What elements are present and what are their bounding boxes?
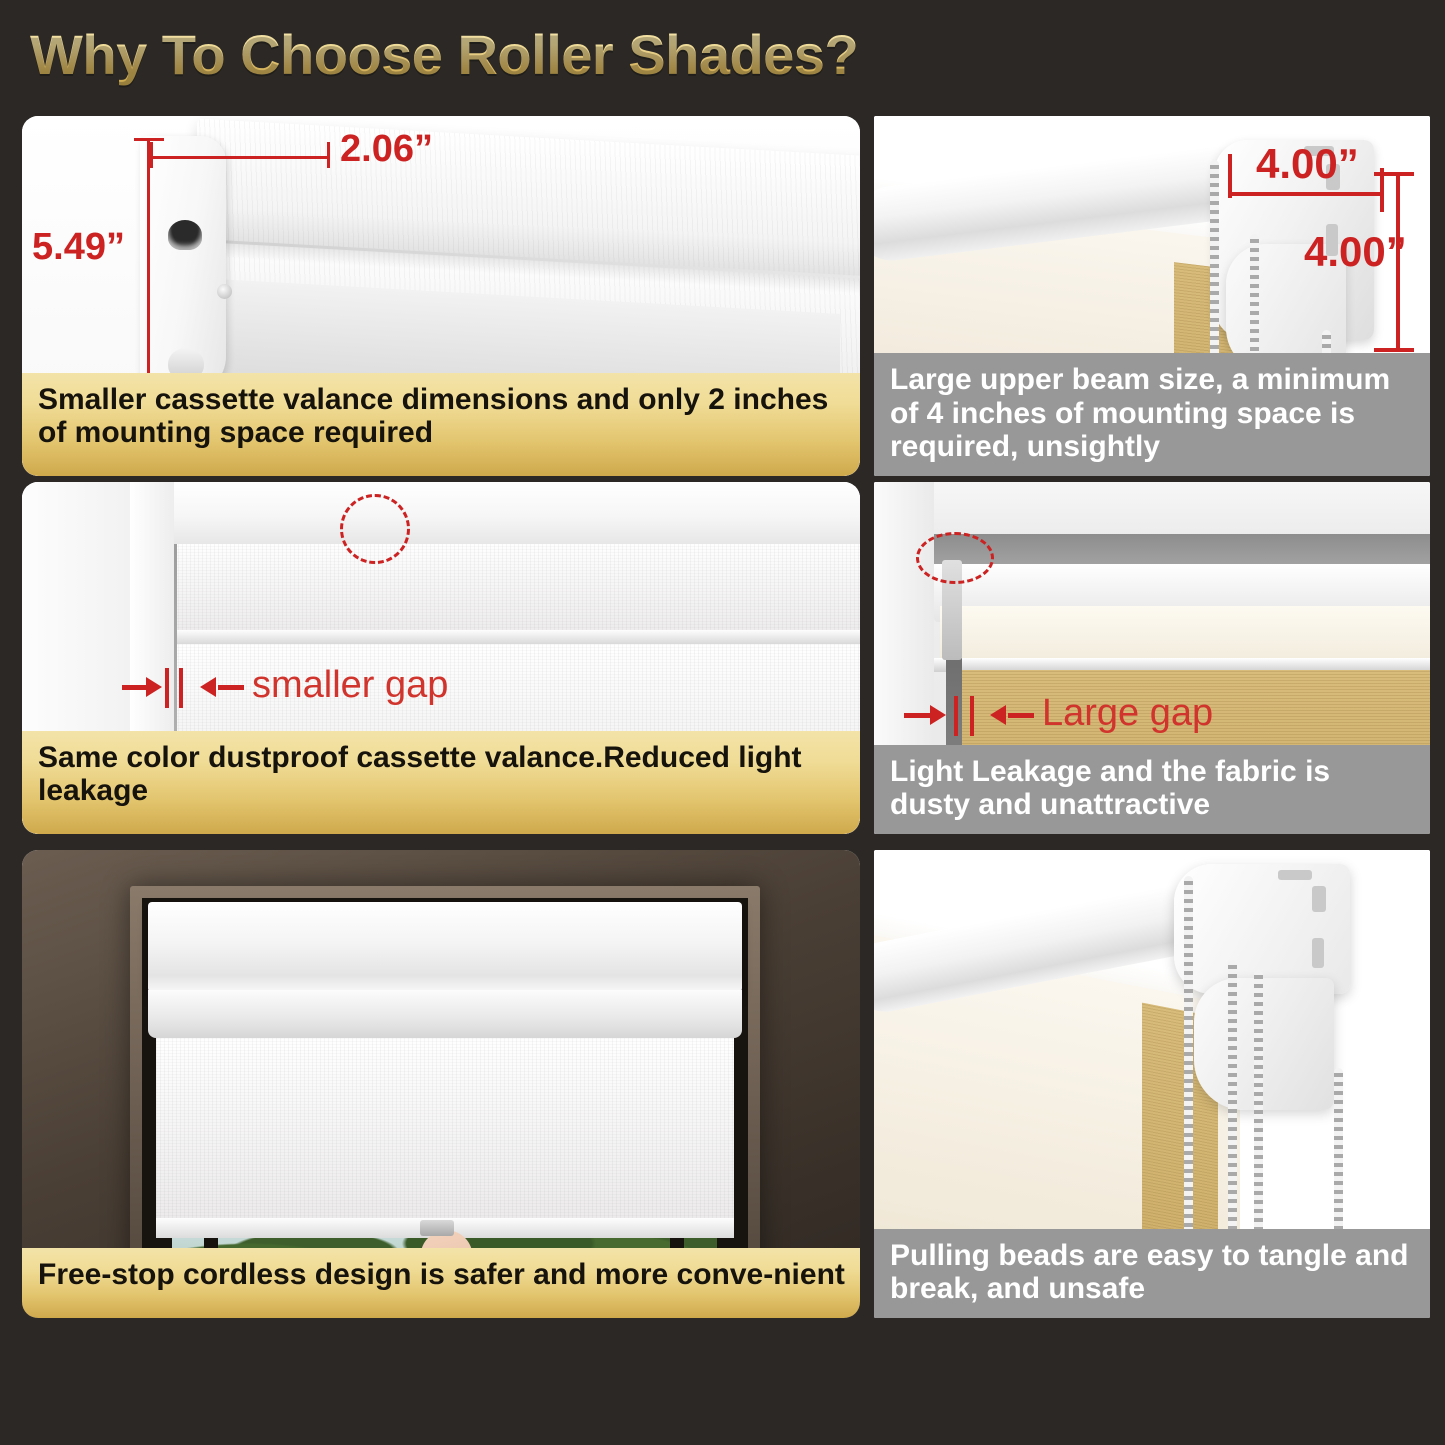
highlight-circle-large-gap (916, 532, 994, 584)
page-title: Why To Choose Roller Shades? (30, 22, 858, 87)
valance-mount-hole (168, 220, 202, 250)
gap-arrow-right-head (200, 677, 216, 697)
dim-width-line (150, 156, 330, 159)
caption-con-beads: Pulling beads are easy to tangle and bre… (874, 1229, 1430, 1318)
gap-mark-left (954, 696, 958, 736)
gap-arrow-right-shaft (1008, 713, 1034, 718)
dim-width-label: 2.06” (340, 128, 433, 171)
bracket-slot-3 (1278, 870, 1312, 880)
roller-shade-fabric (156, 1036, 734, 1222)
valance-screw (217, 284, 232, 299)
gap-arrow-left-shaft (122, 685, 146, 690)
gap-label-small: smaller gap (252, 664, 448, 707)
infographic-root: Why To Choose Roller Shades? 2.06” (0, 0, 1445, 1445)
dim-width-tick-right (327, 142, 330, 168)
gap-label-large: Large gap (1042, 692, 1213, 735)
gap-arrow-left-head (930, 705, 946, 725)
gap-mark-right (179, 668, 183, 708)
dim-beam-height-tick-top (1374, 172, 1414, 176)
caption-con-beam-size: Large upper beam size, a minimum of 4 in… (874, 353, 1430, 476)
ceiling-area (874, 482, 1430, 536)
dim-width-tick-left (150, 142, 153, 168)
window-frame-top (130, 482, 860, 544)
dim-beam-height-label: 4.00” (1304, 228, 1407, 276)
panel-con-beads: Pulling beads are easy to tangle and bre… (874, 850, 1430, 1318)
comparison-row-3: Free-stop cordless design is safer and m… (0, 850, 1445, 1330)
dim-height-label: 5.49” (32, 226, 125, 269)
valance-lower-bar (148, 990, 742, 1038)
bracket-slot-2 (1312, 938, 1324, 968)
cream-fabric-band (940, 606, 1430, 662)
gap-mark-left (165, 668, 169, 708)
gap-arrow-right-head (990, 705, 1006, 725)
caption-pro-cordless: Free-stop cordless design is safer and m… (22, 1248, 860, 1318)
highlight-circle-small-gap (340, 494, 410, 564)
gap-arrow-left-head (146, 677, 162, 697)
shade-midrail (172, 630, 860, 644)
dim-beam-width-tick-left (1228, 154, 1232, 198)
dim-beam-width-label: 4.00” (1256, 140, 1359, 188)
shade-upper-section (174, 540, 860, 640)
caption-con-large-gap: Light Leakage and the fabric is dusty an… (874, 745, 1430, 834)
gap-arrow-right-shaft (218, 685, 244, 690)
comparison-row-1: 2.06” 5.49” Smaller cassette valance dim… (0, 110, 1445, 482)
gap-arrow-left-shaft (904, 713, 930, 718)
pull-tab (420, 1220, 454, 1236)
dim-beam-width-line (1230, 192, 1384, 196)
caption-pro-small-gap: Same color dustproof cassette valance.Re… (22, 731, 860, 834)
gap-mark-right (970, 696, 974, 736)
panel-pro-small-gap: smaller gap Same color dustproof cassett… (22, 482, 860, 834)
panel-pro-cassette-size: 2.06” 5.49” Smaller cassette valance dim… (22, 116, 860, 476)
panel-pro-cordless: Free-stop cordless design is safer and m… (22, 850, 860, 1318)
dim-beam-height-tick-bottom (1374, 348, 1414, 352)
panel-con-large-gap: Large gap Light Leakage and the fabric i… (874, 482, 1430, 834)
panel-con-beam-size: 4.00” 4.00” Large upper beam size, a min… (874, 116, 1430, 476)
bracket-slot-1 (1312, 886, 1326, 912)
dim-height-tick-top (134, 138, 164, 141)
cassette-valance (148, 902, 742, 994)
bracket-lower (1194, 978, 1334, 1110)
comparison-grid: 2.06” 5.49” Smaller cassette valance dim… (0, 110, 1445, 1330)
comparison-row-2: smaller gap Same color dustproof cassett… (0, 482, 1445, 850)
caption-pro-cassette-size: Smaller cassette valance dimensions and … (22, 373, 860, 476)
dim-height-line (147, 138, 150, 410)
